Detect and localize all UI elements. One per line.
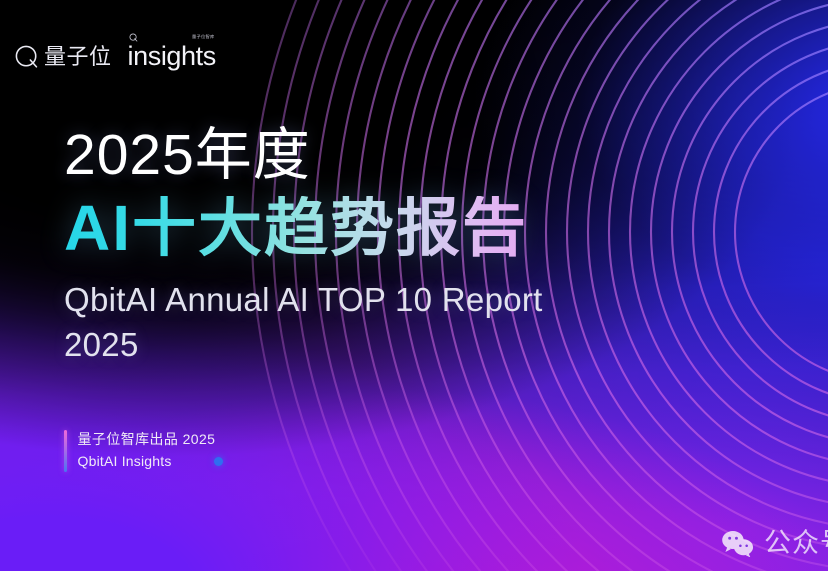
attribution-english: QbitAI Insights bbox=[78, 452, 216, 472]
qbitai-logo: 量子位 bbox=[14, 44, 112, 70]
attribution-chinese: 量子位智库出品 2025 bbox=[78, 430, 216, 450]
wechat-watermark-text: 公众号 bbox=[764, 530, 828, 557]
brand-logo-row: 量子位 量子位智库 insights bbox=[14, 33, 216, 70]
insights-logo: 量子位智库 insights bbox=[128, 33, 216, 70]
attribution-text: 量子位智库出品 2025 QbitAI Insights bbox=[78, 430, 216, 472]
wechat-watermark: 公众号 bbox=[721, 529, 828, 557]
q-circle-small-icon bbox=[129, 33, 138, 42]
wechat-icon bbox=[721, 529, 755, 557]
insights-logo-text: insights bbox=[128, 41, 216, 71]
headline-block: 2025年度 AI十大趋势报告 QbitAI Annual AI TOP 10 … bbox=[64, 127, 784, 367]
qbitai-logo-text: 量子位 bbox=[44, 46, 112, 68]
blue-dot-marker bbox=[214, 457, 223, 466]
poster-cover: 量子位 量子位智库 insights 2025年度 AI十大趋势报告 QbitA… bbox=[0, 0, 828, 571]
headline-main-title: AI十大趋势报告 bbox=[64, 196, 784, 260]
insights-tiny-label: 量子位智库 bbox=[192, 34, 215, 40]
headline-english-subtitle: QbitAI Annual AI TOP 10 Report 2025 bbox=[64, 278, 584, 367]
headline-year: 2025年度 bbox=[64, 127, 784, 184]
accent-bar bbox=[64, 430, 67, 472]
q-circle-icon bbox=[14, 44, 40, 70]
attribution-block: 量子位智库出品 2025 QbitAI Insights bbox=[64, 430, 215, 472]
